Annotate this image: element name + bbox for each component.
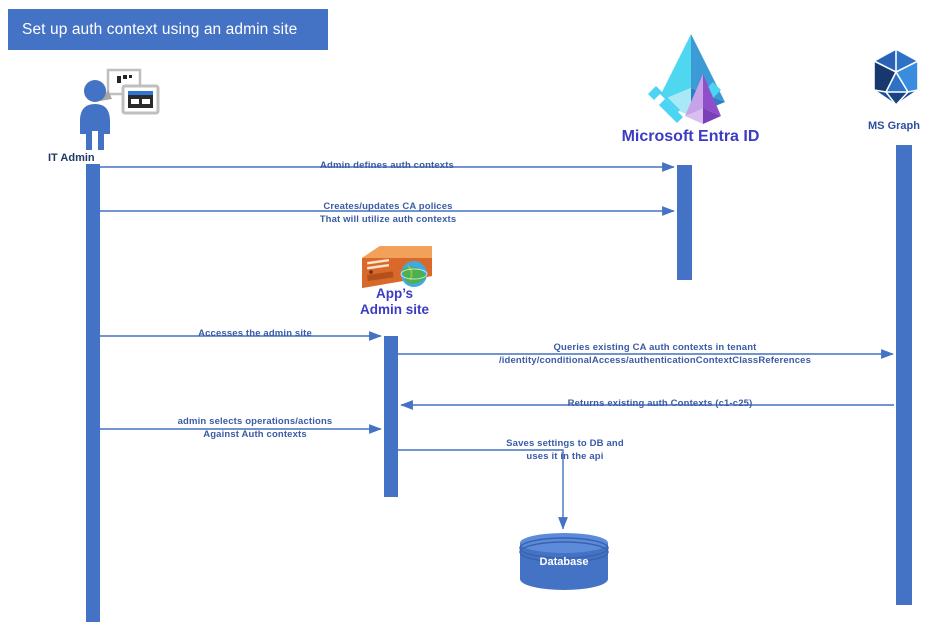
lifeline-it-admin [86, 164, 100, 622]
message-label-m7-line1: Saves settings to DB and [455, 438, 675, 451]
message-label-m5: Returns existing auth Contexts (c1-c25) [430, 398, 890, 411]
diagram-title-banner: Set up auth context using an admin site [8, 9, 328, 50]
message-label-m2: Creates/updates CA polices That will uti… [238, 201, 538, 226]
message-label-m4-line1: Queries existing CA auth contexts in ten… [420, 342, 890, 355]
participant-label-it-admin: IT Admin [48, 152, 152, 164]
message-label-m1: Admin defines auth contexts [237, 160, 537, 173]
message-label-m4-line2: /identity/conditionalAccess/authenticati… [420, 355, 890, 368]
ms-graph-logo [866, 48, 926, 110]
message-label-m2-line1: Creates/updates CA polices [238, 201, 538, 214]
microsoft-entra-id-logo [645, 30, 737, 125]
app-admin-site-label-line1: App’s [332, 286, 457, 302]
web-server-icon [358, 244, 436, 292]
message-label-m1-line1: Admin defines auth contexts [237, 160, 537, 173]
message-label-m5-line1: Returns existing auth Contexts (c1-c25) [430, 398, 890, 411]
message-label-m6: admin selects operations/actions Against… [120, 416, 390, 441]
lifeline-entra-id [677, 165, 692, 280]
participant-label-entra-id: Microsoft Entra ID [598, 128, 783, 146]
message-label-m3-line1: Accesses the admin site [120, 328, 390, 341]
participant-label-app-admin-site: App’s Admin site [332, 286, 457, 318]
sequence-diagram-canvas: Set up auth context using an admin site … [0, 0, 938, 627]
message-label-m4: Queries existing CA auth contexts in ten… [420, 342, 890, 367]
diagram-title: Set up auth context using an admin site [22, 21, 297, 39]
message-label-m7: Saves settings to DB and uses it in the … [455, 438, 675, 463]
message-label-m7-line2: uses it in the api [455, 451, 675, 464]
message-label-m6-line2: Against Auth contexts [120, 429, 390, 442]
message-label-m6-line1: admin selects operations/actions [120, 416, 390, 429]
participant-label-ms-graph: MS Graph [852, 120, 936, 132]
message-label-m3: Accesses the admin site [120, 328, 390, 341]
lifeline-ms-graph [896, 145, 912, 605]
user-with-monitor-icon [78, 68, 164, 150]
message-label-m2-line2: That will utilize auth contexts [238, 214, 538, 227]
database-label: Database [518, 556, 610, 568]
app-admin-site-label-line2: Admin site [332, 302, 457, 318]
